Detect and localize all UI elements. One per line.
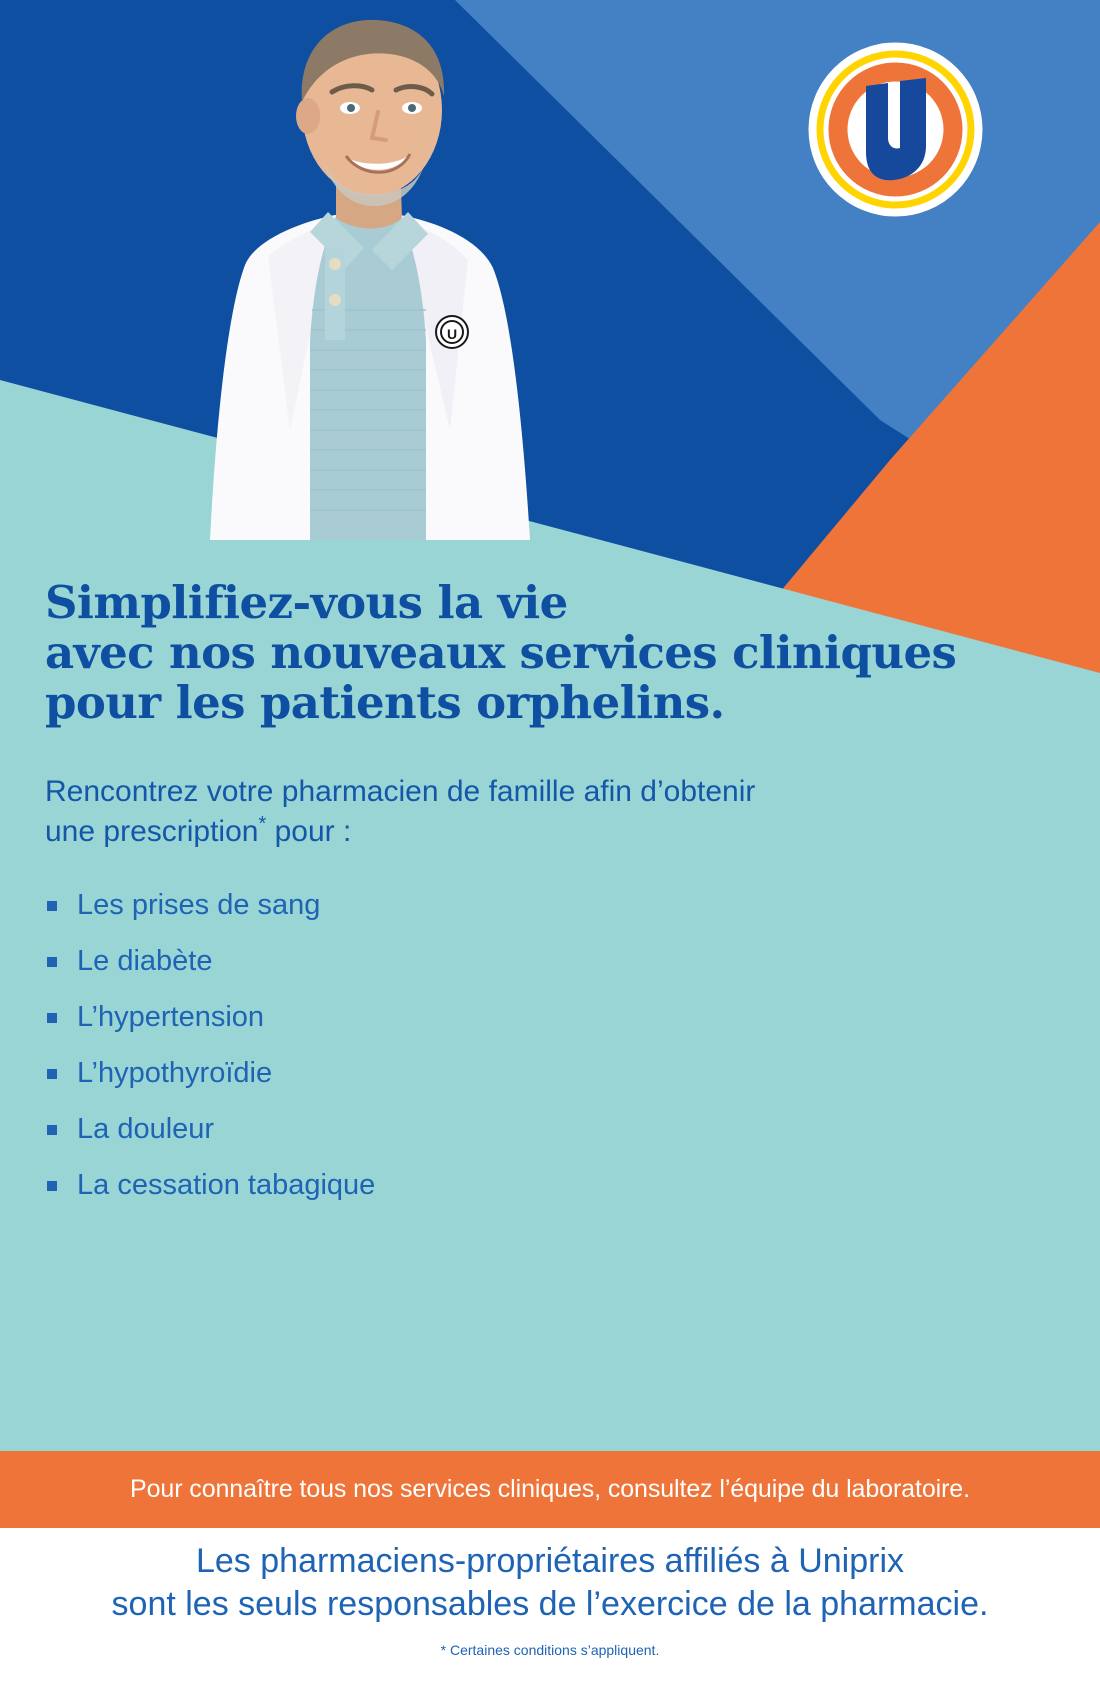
polo-button-bottom <box>329 294 341 306</box>
pharmacist-illustration: U <box>150 10 580 540</box>
list-item: L’hypothyroïdie <box>45 1056 1055 1090</box>
list-item: Le diabète <box>45 944 1055 978</box>
list-item: L’hypertension <box>45 1000 1055 1034</box>
callout-banner: Pour connaître tous nos services cliniqu… <box>0 1451 1100 1528</box>
subheading-text-after-footnote: pour : <box>266 815 351 848</box>
bullet-square-icon <box>47 1069 57 1079</box>
callout-text: Pour connaître tous nos services cliniqu… <box>130 1475 970 1504</box>
subheading: Rencontrez votre pharmacien de famille a… <box>45 772 1055 852</box>
subheading-text-before-footnote: Rencontrez votre pharmacien de famille a… <box>45 775 755 848</box>
list-item-label: La cessation tabagique <box>77 1169 375 1201</box>
uniprix-logo-svg <box>808 42 983 217</box>
list-item-label: L’hypothyroïdie <box>77 1057 272 1089</box>
legal-disclaimer: Les pharmaciens-propriétaires affiliés à… <box>0 1540 1100 1626</box>
uniprix-logo <box>808 42 983 217</box>
bullet-square-icon <box>47 1125 57 1135</box>
pharmacist-photo: U <box>150 10 580 540</box>
services-list: Les prises de sang Le diabète L’hyperten… <box>45 888 1055 1202</box>
svg-text:U: U <box>447 326 457 342</box>
list-item-label: L’hypertension <box>77 1001 264 1033</box>
poster-content: Simplifiez-vous la vie avec nos nouveaux… <box>45 578 1055 1224</box>
pupil-right <box>408 104 416 112</box>
bullet-square-icon <box>47 1013 57 1023</box>
list-item-label: La douleur <box>77 1113 214 1145</box>
list-item: La cessation tabagique <box>45 1168 1055 1202</box>
list-item: La douleur <box>45 1112 1055 1146</box>
page-title: Simplifiez-vous la vie avec nos nouveaux… <box>45 578 1055 728</box>
list-item-label: Les prises de sang <box>77 889 320 921</box>
bullet-square-icon <box>47 1181 57 1191</box>
list-item-label: Le diabète <box>77 945 212 977</box>
bullet-square-icon <box>47 901 57 911</box>
footnote-text: * Certaines conditions s’appliquent. <box>0 1642 1100 1658</box>
pupil-left <box>347 104 355 112</box>
polo-button-top <box>329 258 341 270</box>
uniprix-clinical-services-poster: U Simplifiez-vous la vie avec nos nouvea… <box>0 0 1100 1700</box>
bullet-square-icon <box>47 957 57 967</box>
footer: Les pharmaciens-propriétaires affiliés à… <box>0 1540 1100 1658</box>
list-item: Les prises de sang <box>45 888 1055 922</box>
ear <box>296 98 320 134</box>
lapel-badge: U <box>436 316 468 348</box>
